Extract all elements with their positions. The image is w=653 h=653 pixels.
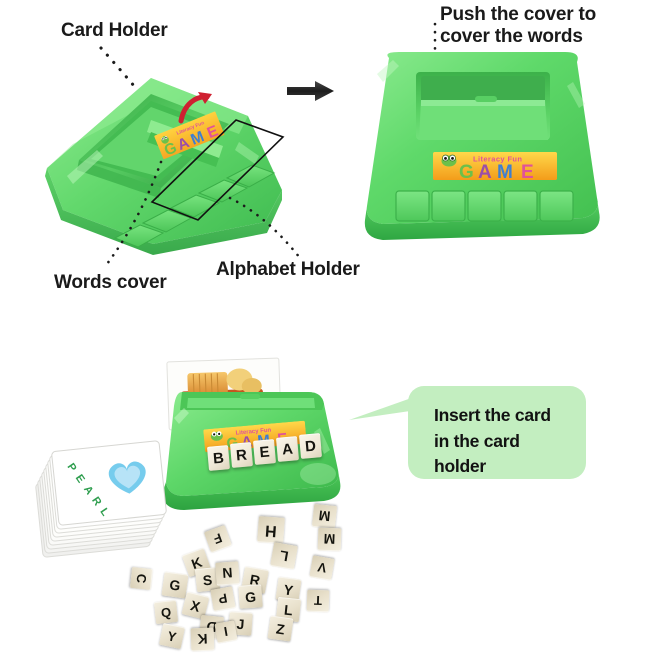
letter-tile-l-7: L xyxy=(270,542,298,570)
svg-text:E: E xyxy=(521,162,534,180)
right-arrow-icon xyxy=(287,80,335,102)
letter-tile-q-18: Q xyxy=(154,600,178,624)
word-tile-2: E xyxy=(253,439,276,465)
letter-tile-i-24: I xyxy=(214,620,237,643)
instruction-diagram-page: Card Holder xyxy=(0,0,653,653)
label-card-holder: Card Holder xyxy=(61,20,168,42)
callout-insert-card: Insert the card in the card holder xyxy=(408,386,586,479)
alphabet-holder-outline xyxy=(148,117,288,232)
word-tile-0: B xyxy=(207,445,230,471)
letter-tile-n-5: N xyxy=(215,561,240,586)
letter-tile-v-11: V xyxy=(309,555,334,580)
word-tile-3: A xyxy=(276,436,299,462)
word-card-stack: P E A R L xyxy=(33,432,173,562)
letter-tile-p-13: P xyxy=(210,586,235,611)
svg-text:M: M xyxy=(497,162,513,180)
word-tile-1: R xyxy=(230,442,253,468)
letter-tile-g-3: G xyxy=(161,571,188,598)
letter-tile-h-6: H xyxy=(257,516,285,544)
svg-text:G: G xyxy=(459,162,474,180)
letter-tile-m-8: M xyxy=(312,504,337,529)
letter-tile-c-2: C xyxy=(130,567,153,590)
word-tile-4: D xyxy=(299,433,322,459)
frog-mascot-icon xyxy=(442,155,457,167)
letter-tile-f-1: F xyxy=(204,525,232,553)
svg-text:A: A xyxy=(478,162,492,180)
letter-tile-k-23: K xyxy=(191,628,215,652)
callout-text: Insert the card in the card holder xyxy=(434,403,551,480)
letter-tile-z-21: Z xyxy=(268,616,294,642)
label-alphabet-holder: Alphabet Holder xyxy=(216,259,360,281)
label-push-cover: Push the cover to cover the words xyxy=(440,4,596,49)
letter-tile-y-22: Y xyxy=(159,623,185,649)
letter-tile-m-9: M xyxy=(318,528,342,552)
letter-tile-t-17: T xyxy=(307,590,330,613)
label-words-cover: Words cover xyxy=(54,272,167,294)
game-sticker-right: Literacy Fun G A M E xyxy=(433,152,557,180)
letter-tile-g-14: G xyxy=(238,584,263,609)
